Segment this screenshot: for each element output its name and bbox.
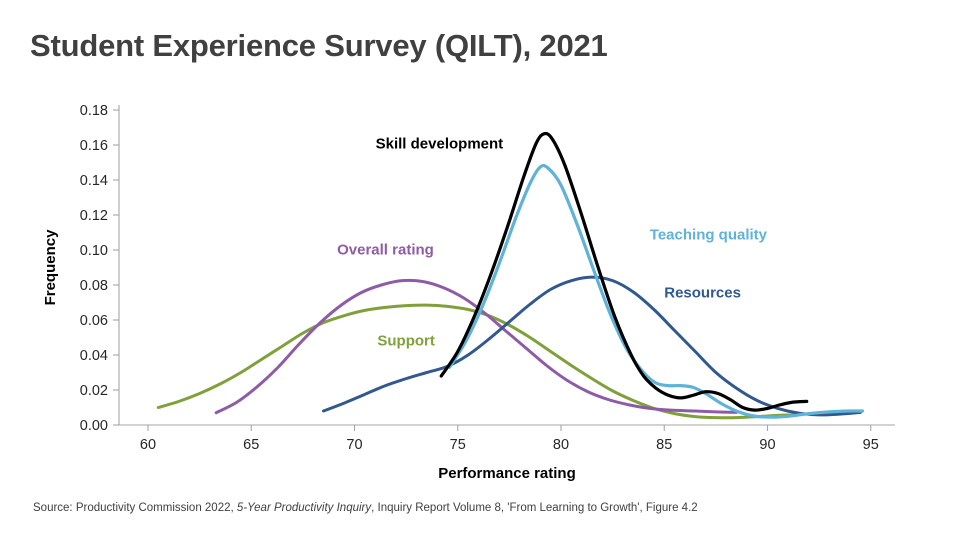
series-label-support: Support	[377, 332, 435, 349]
x-tick-label-3: 75	[450, 437, 466, 453]
page-title: Student Experience Survey (QILT), 2021	[30, 28, 608, 64]
y-tick-label-7: 0.14	[80, 173, 108, 189]
series-label-overall-rating: Overall rating	[337, 241, 434, 258]
y-tick-label-8: 0.16	[80, 138, 108, 154]
x-tick-label-1: 65	[243, 437, 259, 453]
series-label-teaching-quality: Teaching quality	[650, 227, 768, 244]
series-curves-group	[158, 133, 862, 417]
series-curve-overall-rating	[216, 280, 736, 412]
y-tick-label-6: 0.12	[80, 208, 108, 224]
x-tick-label-0: 60	[140, 437, 156, 453]
series-label-skill-development: Skill development	[376, 136, 504, 153]
y-axis-title: Frequency	[42, 229, 59, 306]
y-tick-label-9: 0.18	[80, 103, 108, 119]
y-tick-label-5: 0.10	[80, 243, 108, 259]
series-label-resources: Resources	[664, 284, 741, 301]
source-suffix: , Inquiry Report Volume 8, 'From Learnin…	[371, 502, 698, 514]
series-labels-group: Skill developmentTeaching qualityResourc…	[337, 136, 768, 350]
source-note: Source: Productivity Commission 2022, 5-…	[33, 502, 698, 514]
chart-plot-area: 0.000.020.040.060.080.100.120.140.160.18…	[0, 95, 960, 485]
x-tick-label-6: 90	[759, 437, 775, 453]
y-tick-label-4: 0.08	[80, 278, 108, 294]
line-chart-svg: 0.000.020.040.060.080.100.120.140.160.18…	[0, 95, 960, 485]
slide-canvas: Student Experience Survey (QILT), 2021 0…	[0, 0, 960, 540]
series-curve-support	[158, 305, 798, 418]
x-axis-title: Performance rating	[438, 465, 576, 482]
source-italic-title: 5-Year Productivity Inquiry	[237, 502, 371, 514]
x-tick-label-2: 70	[346, 437, 362, 453]
axis-titles-group: Performance ratingFrequency	[42, 229, 576, 482]
y-tick-label-1: 0.02	[80, 383, 108, 399]
series-curve-teaching-quality	[449, 166, 862, 418]
x-tick-label-7: 95	[863, 437, 879, 453]
source-prefix: Source: Productivity Commission 2022,	[33, 502, 237, 514]
y-tick-label-0: 0.00	[80, 418, 108, 434]
y-tick-label-3: 0.06	[80, 313, 108, 329]
y-tick-label-2: 0.04	[80, 348, 108, 364]
x-tick-label-4: 80	[553, 437, 569, 453]
x-tick-label-5: 85	[656, 437, 672, 453]
